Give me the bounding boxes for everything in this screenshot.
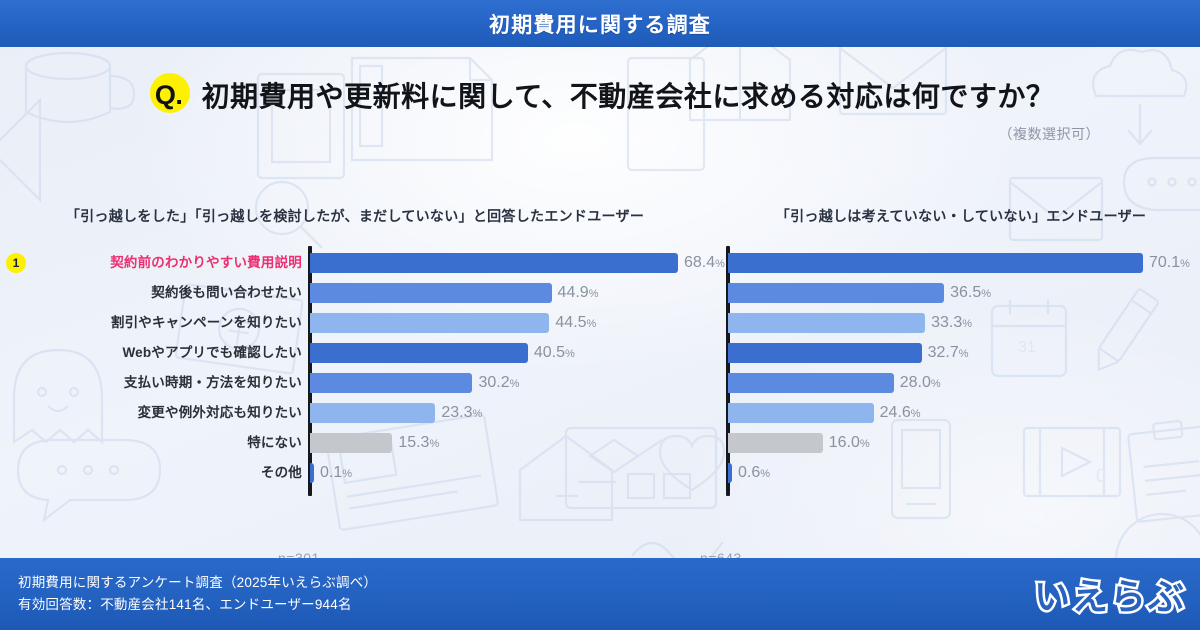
bar-value-label: 40.5% <box>534 338 575 368</box>
chart-row: Webやアプリでも確認したい40.5% <box>0 338 718 368</box>
chart-row: 変更や例外対応も知りたい23.3% <box>0 398 718 428</box>
bar-value-unit: % <box>587 318 597 330</box>
chart-row: 契約後も問い合わせたい44.9% <box>0 278 718 308</box>
bar <box>310 313 549 333</box>
bar-value-number: 15.3 <box>398 434 429 451</box>
bar <box>310 373 472 393</box>
bar-value-label: 30.2% <box>478 368 519 398</box>
question-line: Q. 初期費用や更新料に関して、不動産会社に求める対応は何ですか？ <box>0 72 1200 118</box>
bar <box>310 403 435 423</box>
chart-rows-right: 70.1%36.5%33.3%32.7%28.0%24.6%16.0%0.6% <box>718 248 1200 488</box>
bar-value-label: 24.6% <box>880 398 921 428</box>
bar-track: 24.6% <box>728 398 1200 428</box>
bar-track: 0.6% <box>728 458 1200 488</box>
bar-value-number: 36.5 <box>950 284 981 301</box>
chart-row: 70.1% <box>718 248 1200 278</box>
brand-logo: いえらぶ <box>1034 568 1186 620</box>
bar-value-unit: % <box>472 408 482 420</box>
question-block: Q. 初期費用や更新料に関して、不動産会社に求める対応は何ですか？ （複数選択可… <box>0 72 1200 144</box>
bar-value-number: 33.3 <box>931 314 962 331</box>
bar-value-label: 32.7% <box>928 338 969 368</box>
bar-track: 40.5% <box>310 338 718 368</box>
chart-subtitle-right: 「引っ越しは考えていない・していない」エンドユーザー <box>718 206 1200 226</box>
bar-value-number: 44.9 <box>558 284 589 301</box>
bar-value-label: 70.1% <box>1149 248 1190 278</box>
bar-track: 0.1% <box>310 458 718 488</box>
page-header: 初期費用に関する調査 <box>0 0 1200 47</box>
category-label: Webやアプリでも確認したい <box>122 338 302 368</box>
chart-plot-right: 70.1%36.5%33.3%32.7%28.0%24.6%16.0%0.6% … <box>718 248 1200 498</box>
bar <box>310 343 528 363</box>
page-title: 初期費用に関する調査 <box>489 9 711 39</box>
chart-row: その他0.1% <box>0 458 718 488</box>
bar-track: 28.0% <box>728 368 1200 398</box>
bar-track: 15.3% <box>310 428 718 458</box>
infographic-page: 31 0 初期費用に関する調査 Q. 初期費用や更新料に関して、不動産会社に求め… <box>0 0 1200 630</box>
bar-value-number: 0.6 <box>738 464 760 481</box>
bar <box>728 433 823 453</box>
bar-value-number: 40.5 <box>534 344 565 361</box>
question-badge-label: Q. <box>155 80 183 111</box>
bar-value-label: 23.3% <box>441 398 482 428</box>
chart-row: 32.7% <box>718 338 1200 368</box>
bar-value-number: 32.7 <box>928 344 959 361</box>
footer-text: 初期費用に関するアンケート調査（2025年いえらぶ調べ） 有効回答数：不動産会社… <box>0 572 377 615</box>
charts-area: 「引っ越しをした」「引っ越しを検討したが、まだしていない」と回答したエンドユーザ… <box>0 190 1200 550</box>
bar-value-unit: % <box>959 348 969 360</box>
bar-value-unit: % <box>931 378 941 390</box>
bar-track: 70.1% <box>728 248 1200 278</box>
bar <box>728 283 944 303</box>
category-label: 割引やキャンペーンを知りたい <box>111 308 302 338</box>
bar-track: 30.2% <box>310 368 718 398</box>
bar <box>310 463 314 483</box>
bar-track: 16.0% <box>728 428 1200 458</box>
rank-badge: 1 <box>6 253 26 273</box>
bar-value-unit: % <box>962 318 972 330</box>
chart-subtitle-left: 「引っ越しをした」「引っ越しを検討したが、まだしていない」と回答したエンドユーザ… <box>0 206 718 226</box>
bar-track: 44.9% <box>310 278 718 308</box>
chart-row: 24.6% <box>718 398 1200 428</box>
bar-value-unit: % <box>342 468 352 480</box>
bar-value-unit: % <box>429 438 439 450</box>
bar-value-number: 23.3 <box>441 404 472 421</box>
bar-track: 23.3% <box>310 398 718 428</box>
chart-row: 支払い時期・方法を知りたい30.2% <box>0 368 718 398</box>
bar <box>310 433 392 453</box>
bar-value-unit: % <box>760 468 770 480</box>
category-label: 変更や例外対応も知りたい <box>138 398 302 428</box>
bar-track: 36.5% <box>728 278 1200 308</box>
chart-panel-right: 「引っ越しは考えていない・していない」エンドユーザー 70.1%36.5%33.… <box>718 190 1200 498</box>
bar <box>728 373 894 393</box>
bar-value-label: 15.3% <box>398 428 439 458</box>
question-badge: Q. <box>146 72 192 118</box>
bar-value-unit: % <box>565 348 575 360</box>
bar-value-label: 36.5% <box>950 278 991 308</box>
chart-plot-left: 1契約前のわかりやすい費用説明68.4%契約後も問い合わせたい44.9%割引やキ… <box>0 248 718 498</box>
bar-value-unit: % <box>510 378 520 390</box>
category-label: 契約前のわかりやすい費用説明 <box>110 248 302 278</box>
bar-value-unit: % <box>589 288 599 300</box>
bar <box>728 343 922 363</box>
bar-value-number: 30.2 <box>478 374 509 391</box>
chart-row: 33.3% <box>718 308 1200 338</box>
bar-track: 44.5% <box>310 308 718 338</box>
chart-row: 16.0% <box>718 428 1200 458</box>
footer-line-2: 有効回答数：不動産会社141名、エンドユーザー944名 <box>18 594 377 616</box>
chart-row: 特にない15.3% <box>0 428 718 458</box>
bar-value-label: 0.6% <box>738 458 770 488</box>
bar-track: 32.7% <box>728 338 1200 368</box>
chart-row: 36.5% <box>718 278 1200 308</box>
bar <box>728 253 1143 273</box>
category-label: 支払い時期・方法を知りたい <box>124 368 302 398</box>
bar <box>310 253 678 273</box>
bar-value-label: 44.9% <box>558 278 599 308</box>
bar-value-number: 16.0 <box>829 434 860 451</box>
bar <box>728 313 925 333</box>
bar-value-label: 44.5% <box>555 308 596 338</box>
question-note: （複数選択可） <box>0 124 1200 144</box>
bar-value-number: 24.6 <box>880 404 911 421</box>
bar-value-label: 0.1% <box>320 458 352 488</box>
page-footer: 初期費用に関するアンケート調査（2025年いえらぶ調べ） 有効回答数：不動産会社… <box>0 558 1200 630</box>
bar-value-number: 70.1 <box>1149 254 1180 271</box>
bar-value-label: 33.3% <box>931 308 972 338</box>
bar-value-number: 28.0 <box>900 374 931 391</box>
bar <box>728 463 732 483</box>
category-label: 契約後も問い合わせたい <box>151 278 302 308</box>
category-label: その他 <box>261 458 302 488</box>
bar-value-unit: % <box>1180 258 1190 270</box>
brand-logo-text: いえらぶ <box>1034 568 1186 620</box>
bar-value-unit: % <box>911 408 921 420</box>
bar-value-number: 44.5 <box>555 314 586 331</box>
bar-track: 33.3% <box>728 308 1200 338</box>
category-label: 特にない <box>247 428 302 458</box>
chart-rows-left: 1契約前のわかりやすい費用説明68.4%契約後も問い合わせたい44.9%割引やキ… <box>0 248 718 488</box>
footer-line-1: 初期費用に関するアンケート調査（2025年いえらぶ調べ） <box>18 572 377 594</box>
chart-row: 0.6% <box>718 458 1200 488</box>
bar <box>310 283 552 303</box>
chart-row: 28.0% <box>718 368 1200 398</box>
bar-value-unit: % <box>981 288 991 300</box>
bar <box>728 403 874 423</box>
bar-value-label: 28.0% <box>900 368 941 398</box>
chart-panel-left: 「引っ越しをした」「引っ越しを検討したが、まだしていない」と回答したエンドユーザ… <box>0 190 718 498</box>
bar-track: 68.4% <box>310 248 718 278</box>
bar-value-number: 0.1 <box>320 464 342 481</box>
bar-value-unit: % <box>860 438 870 450</box>
bar-value-label: 16.0% <box>829 428 870 458</box>
bar-value-number: 68.4 <box>684 254 715 271</box>
chart-row: 1契約前のわかりやすい費用説明68.4% <box>0 248 718 278</box>
chart-row: 割引やキャンペーンを知りたい44.5% <box>0 308 718 338</box>
question-text: 初期費用や更新料に関して、不動産会社に求める対応は何ですか？ <box>202 75 1055 115</box>
